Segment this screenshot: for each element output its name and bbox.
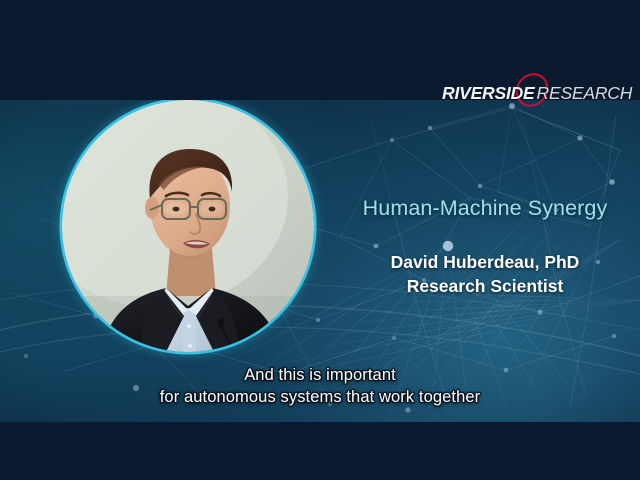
logo-wordmark: RIVERSIDERESEARCH: [442, 82, 632, 104]
riverside-research-logo: RIVERSIDERESEARCH: [442, 76, 622, 110]
video-frame: RIVERSIDERESEARCH Human-Machine Synergy …: [0, 0, 640, 480]
caption-line-2: for autonomous systems that work togethe…: [0, 386, 640, 408]
speaker-role: Research Scientist: [330, 276, 640, 297]
caption-line-1: And this is important: [0, 364, 640, 386]
logo-word-riverside: RIVERSIDE: [442, 83, 535, 103]
speaker-portrait: [62, 100, 314, 352]
speaker-name: David Huberdeau, PhD: [330, 252, 640, 273]
logo-word-research: RESEARCH: [537, 83, 633, 103]
talk-title: Human-Machine Synergy: [330, 196, 640, 221]
portrait-image: [62, 100, 314, 352]
caption-overlay: And this is important for autonomous sys…: [0, 364, 640, 408]
letterbox-band-bottom: [0, 422, 640, 480]
